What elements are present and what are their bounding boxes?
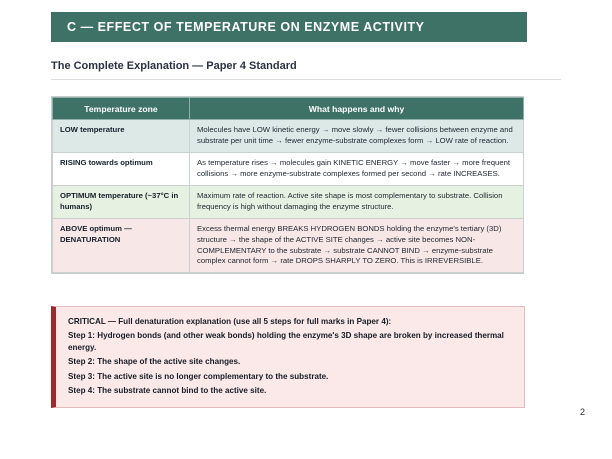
slide-subtitle: The Complete Explanation — Paper 4 Stand… xyxy=(51,60,561,72)
slide-title: C — EFFECT OF TEMPERATURE ON ENZYME ACTI… xyxy=(51,20,425,34)
table-row: OPTIMUM temperature (~37°C in humans) Ma… xyxy=(53,185,524,218)
slide-canvas: C — EFFECT OF TEMPERATURE ON ENZYME ACTI… xyxy=(0,0,612,459)
table-row: RISING towards optimum As temperature ri… xyxy=(53,152,524,185)
column-header-zone: Temperature zone xyxy=(53,98,190,120)
temperature-zone-table: Temperature zone What happens and why LO… xyxy=(51,96,524,274)
cell-zone: LOW temperature xyxy=(53,120,190,153)
cell-zone: RISING towards optimum xyxy=(53,152,190,185)
callout-line: Step 3: The active site is no longer com… xyxy=(68,371,512,382)
column-header-explanation: What happens and why xyxy=(190,98,524,120)
callout-line: Step 4: The substrate cannot bind to the… xyxy=(68,385,512,396)
critical-callout: CRITICAL — Full denaturation explanation… xyxy=(51,306,525,408)
table-row: ABOVE optimum — DENATURATION Excess ther… xyxy=(53,218,524,273)
cell-zone: OPTIMUM temperature (~37°C in humans) xyxy=(53,185,190,218)
cell-detail: Excess thermal energy BREAKS HYDROGEN BO… xyxy=(190,218,524,273)
callout-line: CRITICAL — Full denaturation explanation… xyxy=(68,316,512,327)
subtitle-divider xyxy=(51,79,561,80)
page-number: 2 xyxy=(580,407,585,417)
cell-detail: As temperature rises → molecules gain KI… xyxy=(190,152,524,185)
cell-detail: Molecules have LOW kinetic energy → move… xyxy=(190,120,524,153)
slide-title-band: C — EFFECT OF TEMPERATURE ON ENZYME ACTI… xyxy=(51,12,527,42)
callout-line: Step 2: The shape of the active site cha… xyxy=(68,356,512,367)
table-row: LOW temperature Molecules have LOW kinet… xyxy=(53,120,524,153)
cell-detail: Maximum rate of reaction. Active site sh… xyxy=(190,185,524,218)
callout-line: Step 1: Hydrogen bonds (and other weak b… xyxy=(68,330,512,353)
table-header-row: Temperature zone What happens and why xyxy=(53,98,524,120)
cell-zone: ABOVE optimum — DENATURATION xyxy=(53,218,190,273)
